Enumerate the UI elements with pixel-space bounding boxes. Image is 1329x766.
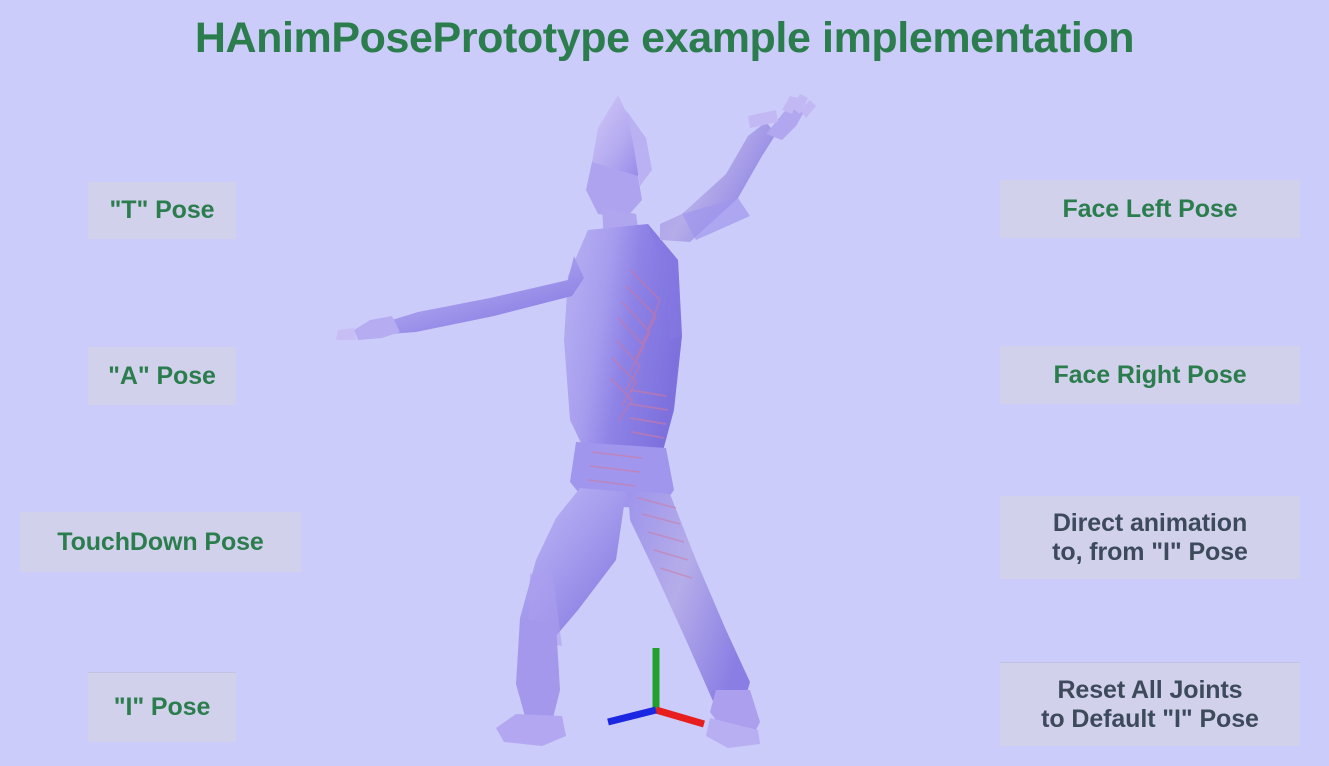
x3d-viewport[interactable] [330,90,890,766]
application-window: HAnimPosePrototype example implementatio… [0,0,1329,766]
z-axis-line [608,710,656,722]
i-pose-button[interactable]: "I" Pose [88,672,236,742]
touchdown-pose-button[interactable]: TouchDown Pose [20,512,301,572]
t-pose-button[interactable]: "T" Pose [88,182,236,239]
face-left-pose-button[interactable]: Face Left Pose [1000,180,1300,238]
axis-gizmo [330,90,890,766]
a-pose-button[interactable]: "A" Pose [88,347,236,405]
reset-all-joints-button[interactable]: Reset All Joints to Default "I" Pose [1000,662,1300,746]
face-right-pose-button[interactable]: Face Right Pose [1000,346,1300,404]
x-axis-line [656,710,704,724]
page-title: HAnimPosePrototype example implementatio… [0,14,1329,63]
direct-animation-button[interactable]: Direct animation to, from "I" Pose [1000,496,1300,579]
